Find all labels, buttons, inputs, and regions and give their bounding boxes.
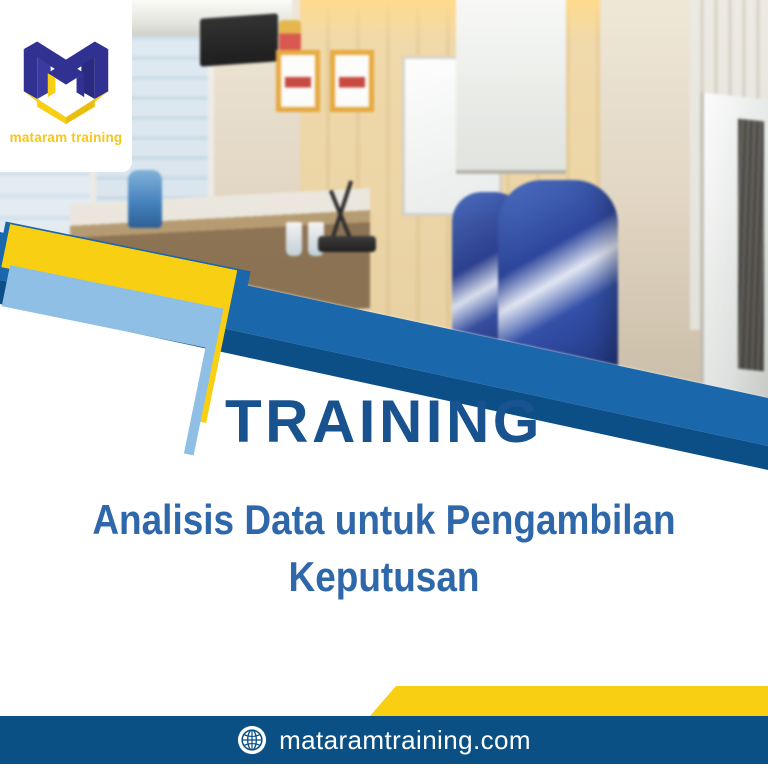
logo-badge[interactable]: mataram training	[0, 0, 132, 172]
page-subtitle: Analisis Data untuk Pengambilan Keputusa…	[85, 492, 683, 605]
page-title: TRAINING	[0, 392, 768, 452]
yellow-wedge	[370, 686, 768, 716]
training-poster: mataram training TRAINING Analisis Data …	[0, 0, 768, 768]
footer-website-url[interactable]: mataramtraining.com	[279, 725, 531, 756]
mataram-m-logo-icon	[18, 28, 114, 124]
globe-icon	[237, 725, 267, 755]
page-subtitle-line-2: Keputusan	[85, 549, 683, 606]
page-subtitle-line-1: Analisis Data untuk Pengambilan	[85, 492, 683, 549]
footer-bar: mataramtraining.com	[0, 716, 768, 764]
logo-wordmark: mataram training	[10, 130, 123, 145]
